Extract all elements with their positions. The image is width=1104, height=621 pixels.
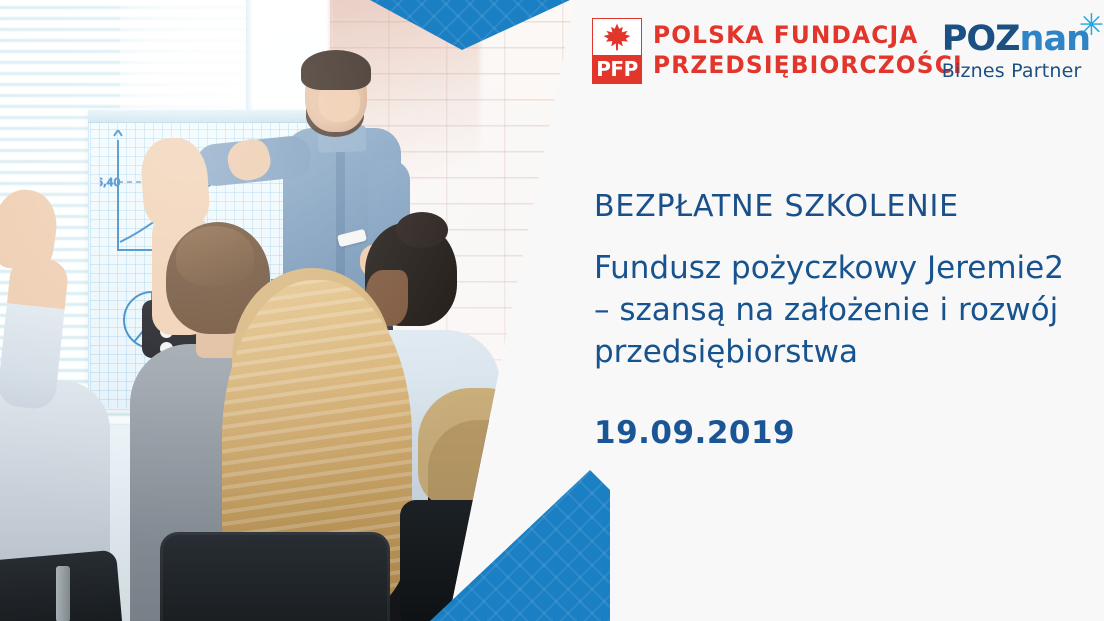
content-panel: PFP POLSKA FUNDACJA PRZEDSIĘBIORCZOŚCI P… <box>570 0 1104 621</box>
chair-back <box>160 532 390 621</box>
headline-line-3: przedsiębiorstwa <box>594 331 1094 373</box>
polska-fundacja-przedsiebiorczosci-logo[interactable]: PFP POLSKA FUNDACJA PRZEDSIĘBIORCZOŚCI <box>592 18 972 84</box>
headline-line-2: – szansą na założenie i rozwój <box>594 289 1094 331</box>
attendee-man-hair <box>176 226 254 286</box>
pfp-wordmark-box: PFP <box>593 55 641 83</box>
pfp-text: POLSKA FUNDACJA PRZEDSIĘBIORCZOŚCI <box>653 22 972 80</box>
presenter-hair <box>301 50 371 90</box>
flipchart-clamp <box>88 110 333 123</box>
maple-leaf-icon <box>602 23 632 51</box>
pfp-mark: PFP <box>592 18 642 84</box>
attendee-right-hair <box>418 388 538 508</box>
event-date: 19.09.2019 <box>594 415 795 451</box>
pfp-line-2: PRZEDSIĘBIORCZOŚCI <box>653 52 963 80</box>
headline-text: Fundusz pożyczkowy Jeremie2 – szansą na … <box>594 247 1094 373</box>
star-icon: ✳ <box>1079 11 1103 41</box>
pfp-line-1: POLSKA FUNDACJA <box>653 22 963 50</box>
poznan-wordmark: POZnan ✳ <box>942 22 1090 57</box>
headline-line-1: Fundusz pożyczkowy Jeremie2 <box>594 247 1094 289</box>
poznan-word-part1: POZ <box>942 19 1020 59</box>
attendee-woman-hair-bun <box>396 212 448 248</box>
poznan-subtitle: Biznes Partner <box>942 60 1090 82</box>
headline-block: BEZPŁATNE SZKOLENIE Fundusz pożyczkowy J… <box>594 190 1094 373</box>
promotional-banner: 6,40 <box>0 0 1104 621</box>
pfp-leaf-box <box>593 19 641 55</box>
pfp-wordmark: PFP <box>596 59 637 79</box>
eyebrow-text: BEZPŁATNE SZKOLENIE <box>594 190 1094 223</box>
svg-text:6,40: 6,40 <box>100 176 121 189</box>
chair-post <box>56 566 70 621</box>
training-seminar-photo: 6,40 <box>0 0 620 621</box>
logo-row: PFP POLSKA FUNDACJA PRZEDSIĘBIORCZOŚCI P… <box>570 14 1104 96</box>
poznan-biznes-partner-logo[interactable]: POZnan ✳ Biznes Partner <box>942 22 1090 82</box>
